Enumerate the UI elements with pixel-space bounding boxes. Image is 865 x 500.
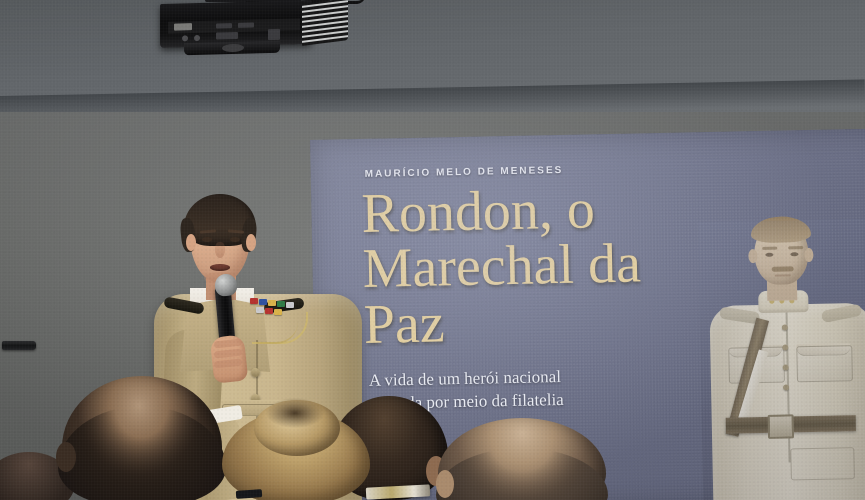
rondon-brow-left	[762, 247, 777, 250]
presenter-ear-left	[186, 234, 196, 251]
ceiling-projector	[150, 0, 350, 60]
medal-ribbon-2	[259, 299, 267, 305]
medal-ribbon-4	[277, 301, 285, 307]
rondon-button-2	[782, 344, 788, 350]
rondon-button-4	[783, 384, 789, 390]
projector-port-lan	[268, 29, 280, 40]
wall-mounted-fixture-icon	[2, 341, 36, 350]
rondon-button-1	[782, 324, 788, 330]
audience-hair-bun-shadow	[266, 398, 324, 428]
audience-head-balding-left	[62, 376, 222, 500]
presenter-button-1	[251, 368, 260, 377]
rondon-moustache	[772, 266, 794, 271]
projector-port-1	[182, 35, 188, 41]
audience-ear-left	[436, 470, 454, 498]
presenter-ear-right	[246, 234, 256, 251]
rondon-lower-pocket	[790, 447, 855, 480]
projector-port-3	[216, 23, 232, 28]
audience-ear-left	[56, 442, 76, 472]
photo-scene: MAURÍCIO MELO DE MENESES Rondon, o Marec…	[0, 0, 865, 500]
rondon-brow-right	[788, 246, 803, 249]
projector-port-2	[194, 35, 200, 41]
audience-head-balding-right	[438, 418, 606, 500]
presenter-eye-left	[202, 237, 212, 242]
presenter-nose	[215, 242, 225, 258]
rondon-ear-left	[748, 249, 757, 263]
slide-author-kicker: MAURÍCIO MELO DE MENESES	[365, 165, 564, 180]
rondon-hair	[751, 216, 812, 243]
presenter-mouth	[210, 264, 230, 271]
projector-port-4	[238, 23, 254, 28]
presenter-eye-right	[230, 237, 240, 242]
projector-badge	[174, 23, 192, 30]
rondon-ear-right	[804, 248, 813, 262]
rondon-mouth	[775, 274, 791, 276]
projector-vent-icon	[302, 0, 348, 46]
projector-port-vga	[216, 32, 238, 40]
rondon-button-3	[783, 364, 789, 370]
rondon-chest-pocket-right	[796, 345, 853, 382]
rondon-belt-buckle	[768, 414, 794, 439]
rondon-portrait-photo	[698, 219, 865, 500]
medal-ribbon-3	[268, 300, 276, 306]
medal-ribbon-1	[250, 298, 258, 304]
projector-lens	[184, 41, 280, 56]
projector-body	[160, 0, 312, 48]
medal-ribbon-5	[286, 302, 294, 308]
audience-head-blonde-bun	[222, 404, 370, 500]
